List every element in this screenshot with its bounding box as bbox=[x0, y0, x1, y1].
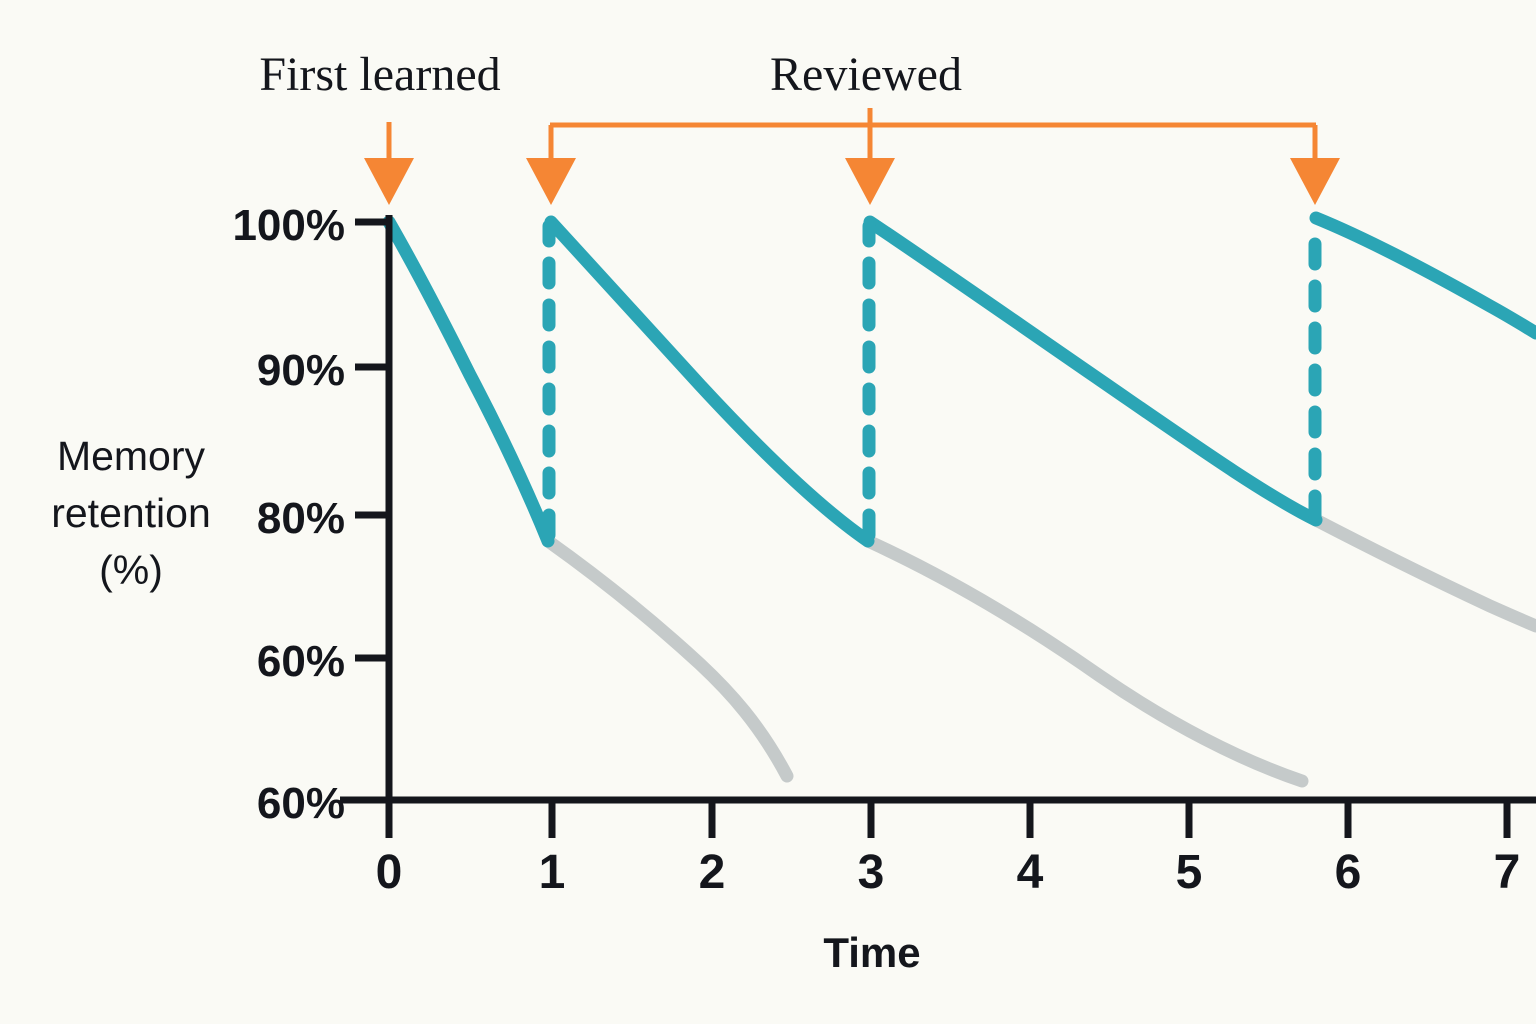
axes-layer bbox=[340, 215, 1536, 803]
y-axis-title-line-3: (%) bbox=[99, 547, 163, 593]
y-tick-label-100: 100% bbox=[232, 201, 345, 250]
gray-decay-1 bbox=[548, 541, 787, 776]
gray-decay-3 bbox=[1316, 520, 1536, 626]
chart-canvas: First learned Reviewed bbox=[0, 0, 1536, 1024]
x-tick-label-4: 4 bbox=[1017, 846, 1044, 899]
y-tick-label-60: 60% bbox=[257, 779, 345, 828]
y-axis-tick-labels: 100% 90% 80% 60% 60% bbox=[232, 201, 345, 828]
x-tick-label-6: 6 bbox=[1335, 846, 1362, 899]
memory-retention-chart: First learned Reviewed bbox=[0, 0, 1536, 1024]
data-curves bbox=[389, 218, 1536, 781]
annotation-reviewed-label: Reviewed bbox=[770, 48, 962, 101]
x-tick-label-5: 5 bbox=[1176, 846, 1203, 899]
x-tick-label-1: 1 bbox=[539, 846, 566, 899]
y-axis-title: Memory retention (%) bbox=[51, 433, 211, 593]
y-tick-label-80: 80% bbox=[257, 494, 345, 543]
first-learned-arrow-icon bbox=[364, 122, 414, 205]
x-tick-label-7: 7 bbox=[1494, 846, 1521, 899]
teal-decay-2 bbox=[551, 222, 868, 541]
series-no-review-gray bbox=[548, 520, 1536, 781]
teal-decay-3 bbox=[870, 222, 1316, 520]
teal-decay-4 bbox=[1316, 218, 1536, 333]
gray-decay-2 bbox=[868, 541, 1302, 781]
x-axis-tick-labels: 0 1 2 3 4 5 6 7 bbox=[376, 846, 1521, 899]
x-axis-title: Time bbox=[823, 929, 920, 976]
reviewed-bracket-icon bbox=[526, 108, 1340, 205]
x-tick-label-0: 0 bbox=[376, 846, 403, 899]
annotation-layer: First learned Reviewed bbox=[259, 48, 1340, 205]
y-axis-title-line-1: Memory bbox=[57, 433, 206, 479]
y-tick-label-70: 60% bbox=[257, 637, 345, 686]
x-tick-label-2: 2 bbox=[699, 846, 726, 899]
series-with-review-teal bbox=[389, 218, 1536, 541]
x-tick-label-3: 3 bbox=[858, 846, 885, 899]
y-axis-title-line-2: retention bbox=[51, 490, 211, 536]
teal-decay-1 bbox=[389, 222, 548, 541]
annotation-first-learned-label: First learned bbox=[259, 48, 500, 101]
y-tick-label-90: 90% bbox=[257, 346, 345, 395]
